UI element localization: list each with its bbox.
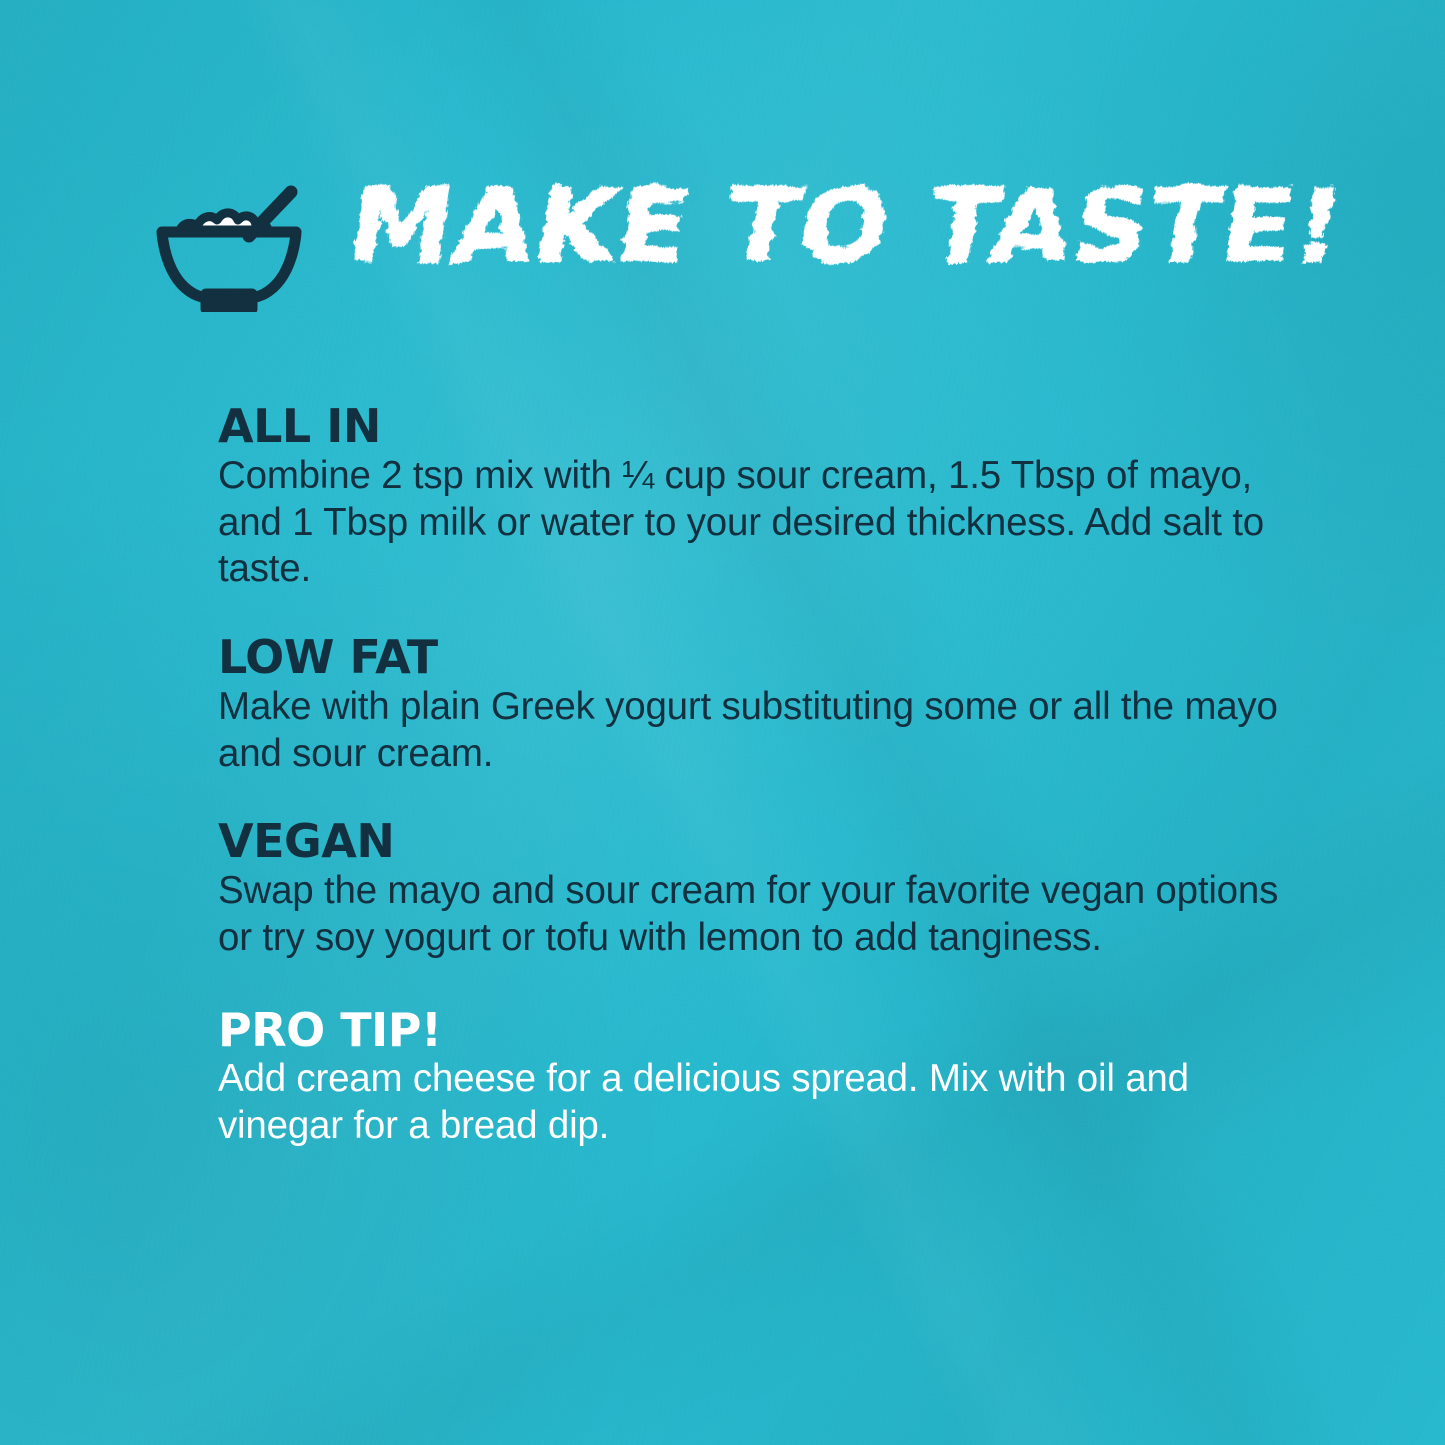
poster-canvas: MAKE TO TASTE! ALL IN Combine 2 tsp mix … bbox=[0, 0, 1445, 1445]
section-body-low-fat: Make with plain Greek yogurt substitutin… bbox=[218, 684, 1298, 778]
section-body-all-in: Combine 2 tsp mix with ¼ cup sour cream,… bbox=[218, 453, 1298, 593]
bowl-with-spoon-icon bbox=[148, 182, 310, 312]
section-heading-all-in: ALL IN bbox=[218, 402, 1308, 451]
section-heading-pro-tip: PRO TIP! bbox=[218, 1006, 1308, 1055]
section-heading-vegan: VEGAN bbox=[218, 817, 1308, 866]
section-vegan: VEGAN Swap the mayo and sour cream for y… bbox=[218, 817, 1308, 961]
section-body-vegan: Swap the mayo and sour cream for your fa… bbox=[218, 868, 1298, 962]
tips-list: ALL IN Combine 2 tsp mix with ¼ cup sour… bbox=[218, 402, 1308, 1150]
page-title: MAKE TO TASTE! bbox=[342, 176, 1352, 279]
poster-header: MAKE TO TASTE! bbox=[148, 176, 1344, 312]
section-all-in: ALL IN Combine 2 tsp mix with ¼ cup sour… bbox=[218, 402, 1308, 593]
section-heading-low-fat: LOW FAT bbox=[218, 633, 1308, 682]
section-pro-tip: PRO TIP! Add cream cheese for a deliciou… bbox=[218, 1006, 1308, 1150]
section-low-fat: LOW FAT Make with plain Greek yogurt sub… bbox=[218, 633, 1308, 777]
section-body-pro-tip: Add cream cheese for a delicious spread.… bbox=[218, 1056, 1298, 1150]
